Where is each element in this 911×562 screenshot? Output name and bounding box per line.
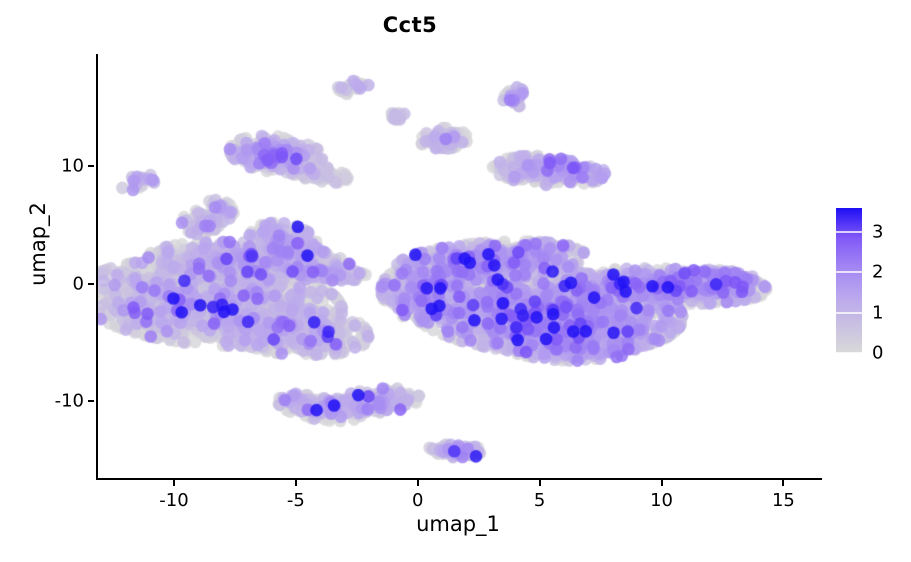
x-axis-label: umap_1 [96,512,820,536]
colorbar-tick-label: 2 [872,262,883,283]
plot-axes [96,54,822,480]
colorbar-tick-mark [836,352,862,354]
page-title: Cct5 [0,13,820,37]
x-tick-label: 10 [650,490,673,511]
y-tick-mark [88,400,94,402]
colorbar-tick-label: 3 [872,222,883,243]
x-tick-mark [417,480,419,486]
colorbar-tick-mark [836,271,862,273]
colorbar-tick-mark [836,312,862,314]
x-tick-label: 0 [412,490,423,511]
colorbar-tick-label: 0 [872,343,883,364]
umap-feature-plot: Cct5 -10-5051015 100-10 umap_1 umap_2 01… [0,0,911,562]
x-tick-label: 15 [772,490,795,511]
colorbar [836,208,862,353]
y-axis-label: umap_2 [26,184,50,304]
x-tick-label: -5 [287,490,305,511]
x-tick-mark [295,480,297,486]
y-tick-label: 10 [40,155,84,176]
colorbar-gradient [836,208,862,353]
y-tick-mark [88,283,94,285]
x-tick-mark [539,480,541,486]
y-tick-label: -10 [40,391,84,412]
x-tick-label: 5 [534,490,545,511]
colorbar-tick-label: 1 [872,302,883,323]
colorbar-tick-mark [836,231,862,233]
x-tick-mark [173,480,175,486]
x-tick-mark [782,480,784,486]
x-tick-mark [661,480,663,486]
scatter-points-canvas [98,54,822,478]
x-tick-label: -10 [159,490,188,511]
y-tick-mark [88,165,94,167]
